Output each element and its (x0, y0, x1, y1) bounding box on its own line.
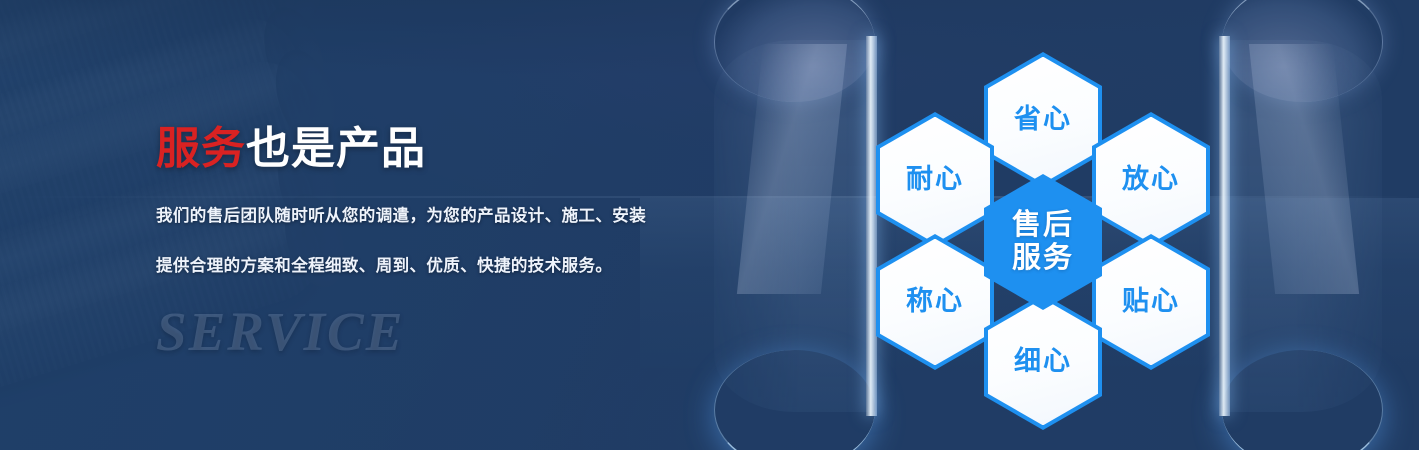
hex-petal-top-label: 省心 (1014, 104, 1072, 135)
hex-petal-upper-right[interactable]: 放心 (1092, 112, 1210, 248)
hex-petal-lower-left-label: 称心 (906, 286, 964, 317)
service-banner: 服务也是产品 我们的售后团队随时听从您的调遣，为您的产品设计、施工、安装 提供合… (0, 0, 1419, 450)
hex-petal-upper-right-label: 放心 (1122, 164, 1180, 195)
hex-petal-lower-right[interactable]: 贴心 (1092, 234, 1210, 370)
page-title: 服务也是产品 (156, 126, 726, 173)
hex-center-label: 售后 服务 (1012, 209, 1074, 276)
hex-center-line-1: 售后 (1012, 209, 1074, 241)
glass-right-edge (1219, 36, 1230, 416)
hex-center[interactable]: 售后 服务 (984, 174, 1102, 310)
hex-petal-upper-left-label: 耐心 (906, 164, 964, 195)
hex-petal-upper-left[interactable]: 耐心 (876, 112, 994, 248)
title-accent: 服务 (156, 124, 246, 173)
description-line-2: 提供合理的方案和全程细致、周到、优质、快捷的技术服务。 (156, 249, 726, 283)
glass-panel-left (714, 40, 874, 412)
hex-petal-lower-right-label: 贴心 (1122, 286, 1180, 317)
copy-block: 服务也是产品 我们的售后团队随时听从您的调遣，为您的产品设计、施工、安装 提供合… (156, 126, 726, 363)
hex-center-line-2: 服务 (1012, 242, 1074, 274)
hex-petal-top[interactable]: 省心 (984, 52, 1102, 188)
glass-panel-right (1222, 40, 1382, 412)
description-line-1: 我们的售后团队随时听从您的调遣，为您的产品设计、施工、安装 (156, 199, 726, 233)
hex-petal-bottom-label: 细心 (1014, 346, 1072, 377)
service-watermark: SERVICE (156, 300, 726, 363)
title-rest: 也是产品 (246, 124, 426, 173)
after-sales-hexagon-diagram: 省心 耐心 放心 称心 贴心 细心 售后 服务 (876, 52, 1216, 400)
hex-petal-lower-left[interactable]: 称心 (876, 234, 994, 370)
